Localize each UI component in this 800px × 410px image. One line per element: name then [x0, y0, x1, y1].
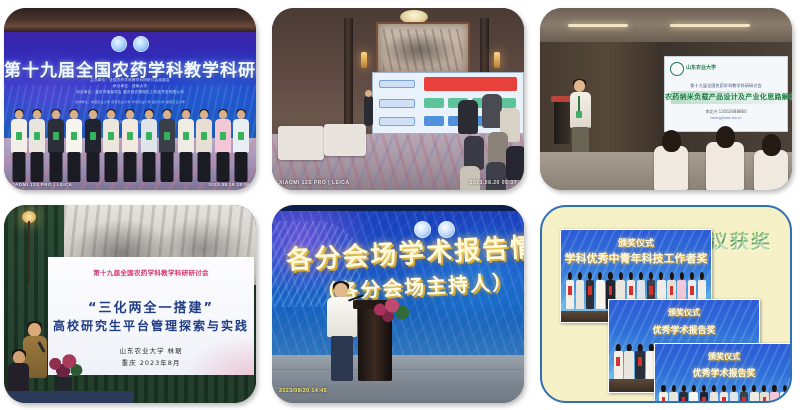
attendee-head: [15, 110, 23, 119]
recipient-certificate: [588, 286, 591, 296]
speaker-trousers: [331, 336, 353, 381]
recipient-certificate: [722, 397, 725, 403]
attendee-figure: [10, 110, 27, 182]
attendee-legs: [105, 152, 118, 182]
stage-floor-line-2: [272, 385, 524, 386]
recipient-certificate: [763, 397, 766, 403]
attendee-legs: [86, 152, 99, 182]
ceiling-light-strip-2: [670, 24, 750, 27]
award-recipient: [770, 385, 779, 403]
logo-emblem-2: [133, 36, 149, 52]
award-recipient: [700, 385, 709, 403]
stage-floor-line-1: [272, 369, 524, 370]
panel-nano-pesticide-talk: 山东农业大学 第十九届全国农药学科教学科研研讨会 农药纳米负载产品设计及产业化思…: [540, 8, 792, 190]
attendee-figure: [103, 110, 120, 182]
audience-chair: [706, 142, 744, 190]
attendee-legs: [235, 152, 248, 182]
recipient-certificate: [702, 397, 705, 403]
flowchart-tag-1: [379, 80, 415, 88]
award-recipient: [689, 385, 698, 403]
group-photo-scene: 第十九届全国农药学科教学科研研讨会 主办单位：全国农药学科教学科研研讨会组委会 …: [4, 8, 256, 190]
award-photo-1-line2: 学科优秀中青年科技工作者奖: [561, 250, 711, 266]
banner-subline-2: 承办单位：西南大学: [4, 84, 256, 89]
wall-art-alcove: [376, 22, 470, 78]
presenter-head: [574, 80, 585, 92]
audience-member: [488, 132, 508, 166]
audience-member: [458, 100, 478, 134]
award-recipient: [720, 385, 729, 403]
panel-group-photo: 第十九届全国农药学科教学科研研讨会 主办单位：全国农药学科教学科研研讨会组委会 …: [4, 8, 256, 190]
attendee-head: [52, 110, 60, 119]
front-table: [4, 391, 134, 403]
attendee-head: [70, 110, 78, 119]
recipient-body: [730, 392, 739, 403]
attendee-badge: [90, 132, 96, 140]
recipient-certificate: [662, 397, 665, 403]
slide-decoration: [184, 335, 254, 375]
panel-awards-card: 会议获奖 颁奖仪式 学科优秀中青年科技工作者奖 颁奖仪式 优秀学术报告奖 颁奖仪…: [540, 205, 792, 403]
watermark-camera: XIAOMI 12S PRO | LEICA: [279, 180, 349, 186]
attendee-badge: [71, 132, 77, 140]
watermark-timestamp: 2023.08.20 05:37: [470, 180, 517, 186]
attendee-group: [10, 104, 250, 182]
attendee-badge: [146, 132, 152, 140]
flowchart-tag-3: [379, 117, 415, 125]
wall-sconce-left: [361, 52, 367, 68]
banner-subline-3: 协办单位：重庆市植保学会 重庆西农德瑞化工科技开发有限公司: [4, 90, 256, 95]
slide-title-line1: “三化两全一搭建”: [48, 297, 254, 316]
presenter-badge: [576, 111, 582, 118]
attendee-badge: [164, 132, 170, 140]
award-recipient: [596, 272, 605, 309]
attendee-head: [126, 110, 134, 119]
attendee-figure: [177, 110, 194, 182]
award-photo-2-line2: 优秀学术报告奖: [609, 323, 759, 336]
award-recipient: [710, 385, 719, 403]
recipient-certificate: [670, 286, 673, 296]
recipient-certificate: [638, 357, 642, 366]
attendee-head: [145, 110, 153, 119]
recipient-body: [710, 392, 719, 403]
attendee-legs: [31, 152, 44, 182]
attendee-head: [89, 110, 97, 119]
ceiling: [4, 8, 256, 34]
photo-collage: 第十九届全国农药学科教学科研研讨会 主办单位：全国农药学科教学科研研讨会组委会 …: [0, 0, 800, 410]
award-photo-3-line1: 颁奖仪式: [655, 351, 792, 362]
flowchart-tag-2: [379, 99, 415, 107]
attendee-head: [219, 110, 227, 119]
attendee-badge: [16, 132, 22, 140]
attendee-legs: [216, 152, 229, 182]
lecture-room-scene: 山东农业大学 第十九届全国农药学科教学科研研讨会 农药纳米负载产品设计及产业化思…: [540, 8, 792, 190]
slide-conference-line: 第十九届全国农药学科教学科研研讨会: [665, 83, 787, 89]
speaker-head: [28, 323, 41, 337]
award-recipient: [780, 385, 789, 403]
attendee-badge: [220, 132, 226, 140]
recipient-certificate: [649, 286, 652, 296]
floor-lamp-pole: [28, 221, 30, 285]
presenter-lanyard: [578, 96, 580, 112]
award-photo-3-line2: 优秀学术报告奖: [655, 366, 792, 379]
flowchart-blue-box-1: [424, 116, 444, 126]
standing-presenter: [364, 96, 373, 126]
award-recipient: [669, 385, 678, 403]
slide-title-line2: 高校研究生平台管理探索与实践: [48, 317, 254, 334]
recipient-body: [770, 392, 779, 403]
attendee-legs: [161, 152, 174, 182]
award-recipient: [635, 344, 644, 379]
stage-scene: 各分会场学术报告情况汇报 （各分会场主持人） 2023 2023/08/20 1…: [272, 205, 524, 403]
attendee-head: [163, 110, 171, 119]
audience-member: [482, 94, 502, 128]
attendee-legs: [68, 152, 81, 182]
attendee-figure: [84, 110, 101, 182]
award-photo-3: 颁奖仪式 优秀学术报告奖: [654, 343, 792, 403]
recipient-certificate: [682, 397, 685, 403]
recipient-certificate: [742, 397, 745, 403]
attendee-legs: [123, 152, 136, 182]
award-recipient: [624, 344, 633, 379]
recipient-body: [576, 280, 585, 309]
recipient-certificate: [609, 286, 612, 296]
audience-crowd: [456, 92, 524, 190]
audience-head: [662, 130, 681, 152]
award-photo-2-line1: 颁奖仪式: [609, 307, 759, 318]
attendee-figure: [214, 110, 231, 182]
award-recipient: [679, 385, 688, 403]
recipient-body: [669, 392, 678, 403]
attendee-badge: [183, 132, 189, 140]
recipient-certificate: [568, 286, 571, 296]
watermark-timestamp: 2023.08.19 18:06: [208, 182, 250, 187]
attendee-badge: [108, 132, 114, 140]
recipient-certificate: [690, 286, 693, 296]
banquet-hall-scene: XIAOMI 12S PRO | LEICA 2023.08.20 05:37: [272, 8, 524, 190]
attendee-badge: [53, 132, 59, 140]
university-logo-icon: [670, 62, 684, 76]
award-photo-1-line1: 颁奖仪式: [561, 236, 711, 249]
award-recipient: [740, 385, 749, 403]
attendee-head: [182, 110, 190, 119]
attendee-head: [107, 110, 115, 119]
attendee-legs: [179, 152, 192, 182]
award-recipient: [576, 272, 585, 309]
recipient-body: [624, 351, 633, 379]
slide-university: 山东农业大学: [686, 64, 716, 71]
attendee-badge: [201, 132, 207, 140]
recipient-body: [596, 280, 605, 309]
audience-chair: [654, 146, 688, 190]
attendee-legs: [12, 152, 25, 182]
attendee-figure: [233, 110, 250, 182]
recipient-body: [750, 392, 759, 403]
attendee-legs: [49, 152, 62, 182]
stage-floor: [272, 355, 524, 403]
attendee-head: [33, 110, 41, 119]
slide-presenter: 李北兴 13562688860: [665, 109, 787, 115]
award-recipient: [730, 385, 739, 403]
podium-flowers: [370, 297, 410, 325]
attendee-legs: [198, 152, 211, 182]
audience-head: [762, 134, 781, 156]
banner-subline-1: 主办单位：全国农药学科教学科研研讨会组委会: [4, 78, 256, 83]
slide-title: 农药纳米负载产品设计及产业化思路解析: [665, 92, 787, 102]
award-recipient: [760, 385, 769, 403]
attendee-figure: [66, 110, 83, 182]
attendee-figure: [121, 110, 138, 182]
award-recipients-row-3: [659, 385, 789, 403]
attendee-figure: [159, 110, 176, 182]
attendee-head: [237, 110, 245, 119]
attendee-figure: [140, 110, 157, 182]
wall-sconce-right: [494, 52, 500, 68]
lounge-sofa-right: [324, 124, 366, 156]
podium: [554, 100, 570, 144]
attendee-badge: [127, 132, 133, 140]
speaker-head: [334, 283, 348, 298]
attendee-badge: [34, 132, 40, 140]
recipient-certificate: [616, 357, 620, 366]
recipient-certificate: [629, 286, 632, 296]
logo-emblem-1: [111, 36, 127, 52]
seated-audience: [650, 120, 792, 190]
flowchart-header-box: [424, 77, 517, 91]
speaker-slide-scene: 第十九届全国农药学科教学科研研讨会 “三化两全一搭建” 高校研究生平台管理探索与…: [4, 205, 256, 403]
audience-member: [464, 136, 484, 170]
award-recipient: [614, 344, 623, 379]
attendee-figure: [196, 110, 213, 182]
panel-session-summary-stage: 各分会场学术报告情况汇报 （各分会场主持人） 2023 2023/08/20 1…: [272, 205, 524, 403]
attendee-legs: [142, 152, 155, 182]
panel-graduate-platform-talk: 第十九届全国农药学科教学科研研讨会 “三化两全一搭建” 高校研究生平台管理探索与…: [4, 205, 256, 403]
attendee-badge: [238, 132, 244, 140]
attendee-figure: [47, 110, 64, 182]
conference-logos: [111, 36, 149, 52]
audience-head: [716, 126, 735, 148]
attendee-head: [200, 110, 208, 119]
attendee-figure: [29, 110, 46, 182]
award-recipient: [750, 385, 759, 403]
presenter-shirt: [570, 92, 591, 128]
slide-header: 第十九届全国农药学科教学科研研讨会: [48, 267, 254, 277]
award-recipient: [566, 272, 575, 309]
audience-member: [460, 166, 480, 190]
flowchart-green-box-1: [424, 98, 444, 108]
recipient-certificate: [783, 397, 786, 403]
ceiling-light-strip-1: [568, 24, 628, 27]
audience-member: [506, 146, 524, 180]
audience-chair: [754, 150, 788, 190]
award-recipient: [659, 385, 668, 403]
recipient-body: [689, 392, 698, 403]
panel-flowchart-talk: XIAOMI 12S PRO | LEICA 2023.08.20 05:37: [272, 8, 524, 190]
lounge-sofa-left: [278, 126, 324, 160]
watermark-camera: XIAOMI 12S PRO | LEICA: [10, 182, 72, 187]
photo-timestamp: 2023/08/20 14:45: [279, 388, 327, 394]
award-recipient: [586, 272, 595, 309]
